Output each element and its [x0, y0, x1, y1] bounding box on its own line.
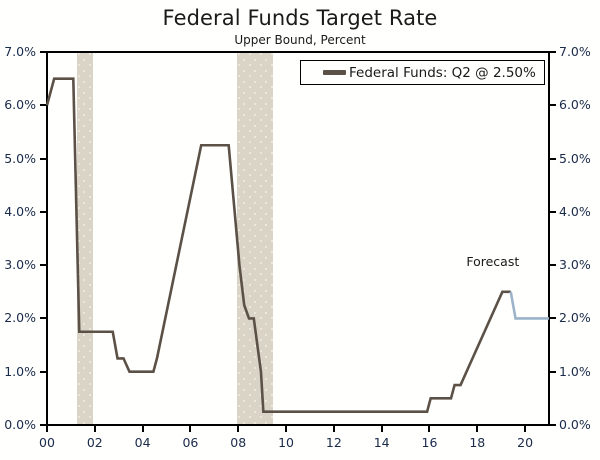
y-axis-label-right: 5.0%: [559, 151, 600, 166]
y-axis-label-left: 0.0%: [0, 417, 36, 432]
y-axis-label-left: 1.0%: [0, 364, 36, 379]
x-tick: [46, 425, 48, 432]
y-tick-left: [40, 104, 48, 106]
x-tick: [237, 425, 239, 432]
x-tick: [476, 425, 478, 432]
legend[interactable]: Federal Funds: Q2 @ 2.50%: [300, 60, 545, 85]
y-tick-left: [40, 371, 48, 373]
y-tick-right: [548, 317, 556, 319]
y-axis-label-right: 1.0%: [559, 364, 600, 379]
chart-subtitle: Upper Bound, Percent: [0, 33, 600, 47]
y-axis-label-right: 2.0%: [559, 310, 600, 325]
y-axis-label-left: 7.0%: [0, 44, 36, 59]
x-tick: [381, 425, 383, 432]
x-axis-label: 16: [412, 435, 446, 450]
forecast-annotation-label: Forecast: [466, 254, 519, 269]
x-tick: [142, 425, 144, 432]
y-axis-label-right: 7.0%: [559, 44, 600, 59]
y-axis-label-left: 3.0%: [0, 257, 36, 272]
y-tick-left: [40, 158, 48, 160]
y-tick-left: [40, 264, 48, 266]
x-axis-label: 06: [173, 435, 207, 450]
x-tick: [428, 425, 430, 432]
plot-area: [46, 51, 550, 425]
x-axis-label: 18: [460, 435, 494, 450]
y-tick-right: [548, 51, 556, 53]
y-tick-left: [40, 211, 48, 213]
y-tick-right: [548, 104, 556, 106]
y-tick-left: [40, 51, 48, 53]
y-tick-right: [548, 371, 556, 373]
x-tick: [285, 425, 287, 432]
y-axis-label-left: 5.0%: [0, 151, 36, 166]
x-tick: [333, 425, 335, 432]
legend-line-swatch: [323, 70, 346, 75]
recession-2008-band: [237, 52, 273, 425]
y-axis-label-right: 4.0%: [559, 204, 600, 219]
x-axis-label: 08: [221, 435, 255, 450]
legend-entry-label: Federal Funds: Q2 @ 2.50%: [349, 65, 536, 81]
y-axis-label-left: 2.0%: [0, 310, 36, 325]
y-tick-right: [548, 264, 556, 266]
x-tick: [94, 425, 96, 432]
y-tick-left: [40, 317, 48, 319]
x-axis-label: 04: [126, 435, 160, 450]
axis-bottom-line: [46, 424, 550, 426]
chart-container: Federal Funds Target Rate Upper Bound, P…: [0, 0, 600, 460]
axis-top-line: [46, 51, 550, 53]
x-axis-label: 00: [30, 435, 64, 450]
recession-2001-band: [77, 52, 93, 425]
x-axis-label: 20: [508, 435, 542, 450]
y-axis-label-left: 4.0%: [0, 204, 36, 219]
y-axis-label-left: 6.0%: [0, 97, 36, 112]
y-tick-right: [548, 211, 556, 213]
y-tick-right: [548, 158, 556, 160]
x-axis-label: 12: [317, 435, 351, 450]
y-axis-label-right: 0.0%: [559, 417, 600, 432]
y-axis-label-right: 3.0%: [559, 257, 600, 272]
y-axis-label-right: 6.0%: [559, 97, 600, 112]
x-axis-label: 10: [269, 435, 303, 450]
x-tick: [189, 425, 191, 432]
x-tick: [524, 425, 526, 432]
x-axis-label: 02: [78, 435, 112, 450]
y-tick-right: [548, 424, 556, 426]
x-axis-label: 14: [365, 435, 399, 450]
chart-title: Federal Funds Target Rate: [0, 6, 600, 30]
